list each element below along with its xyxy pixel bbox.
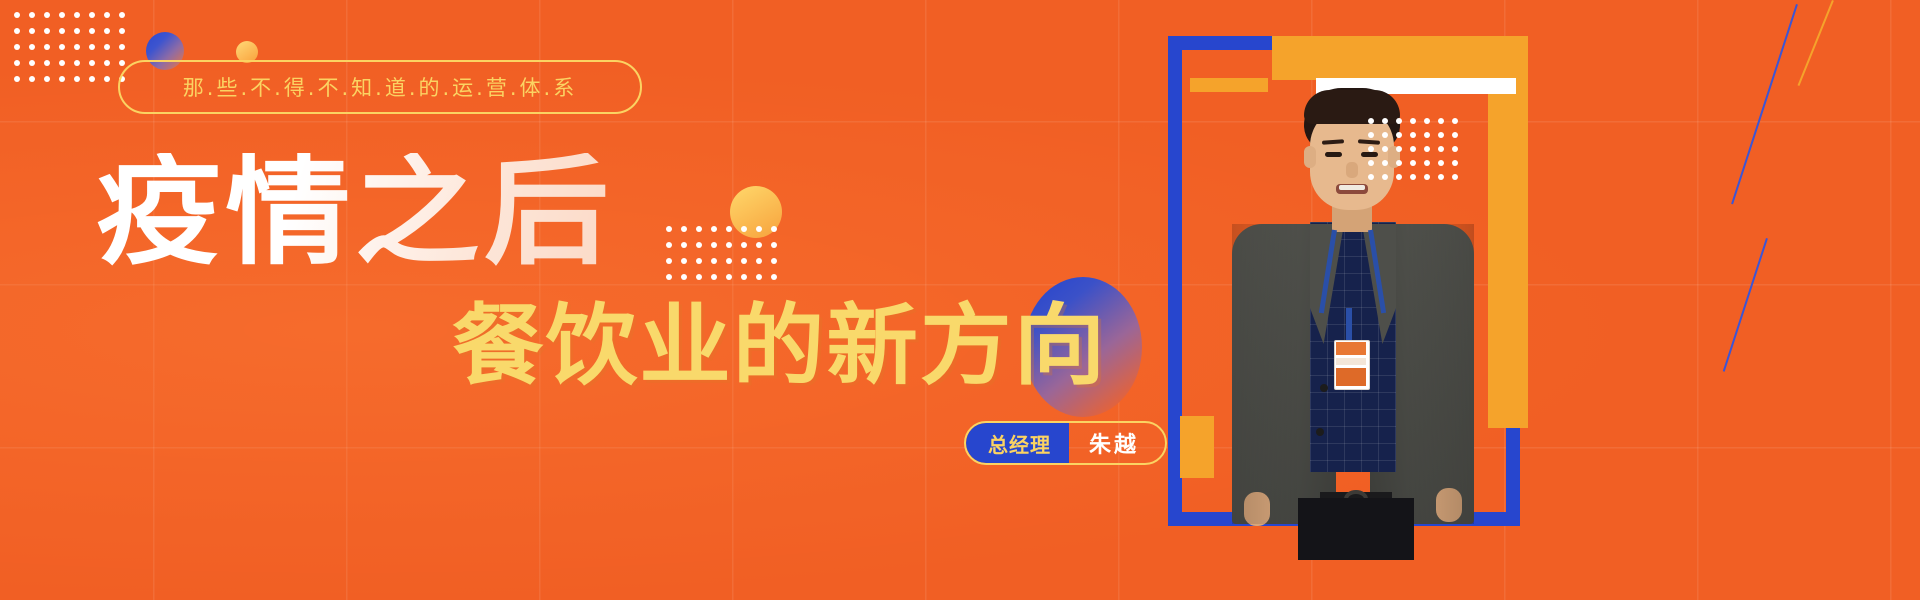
- subtitle-text: 那.些.不.得.不.知.道.的.运.营.体.系: [183, 72, 577, 102]
- portrait-nose: [1346, 162, 1358, 178]
- portrait-id-card-footer: [1336, 368, 1366, 386]
- dot-grid-photo-icon: [1368, 118, 1458, 180]
- headline-secondary: 餐饮业的新方向: [452, 300, 1107, 392]
- portrait-ear-left: [1304, 146, 1316, 168]
- portrait-id-card-header: [1336, 342, 1366, 355]
- portrait-teeth: [1339, 185, 1365, 190]
- speaker-badge: 总经理 朱越: [964, 421, 1167, 465]
- portrait-eye-left: [1325, 152, 1342, 157]
- speaker-role: 总经理: [966, 423, 1069, 463]
- portrait-trousers: [1298, 498, 1414, 560]
- speaker-photo-frame: [1168, 30, 1528, 560]
- portrait-hand-right: [1436, 488, 1462, 522]
- speaker-name: 朱越: [1069, 423, 1165, 463]
- portrait-hand-left: [1244, 492, 1270, 526]
- speaker-portrait: [1192, 84, 1506, 560]
- portrait-jacket-button-1: [1320, 384, 1328, 392]
- headline-primary: 疫情之后: [96, 153, 613, 271]
- portrait-id-card-body: [1336, 358, 1366, 365]
- subtitle-pill: 那.些.不.得.不.知.道.的.运.营.体.系: [118, 60, 642, 114]
- banner-canvas: 那.些.不.得.不.知.道.的.运.营.体.系 疫情之后 餐饮业的新方向 总经理…: [0, 0, 1920, 600]
- portrait-jacket-button-2: [1316, 428, 1324, 436]
- dot-grid-top-left-icon: [14, 12, 125, 82]
- dot-grid-middle-icon: [666, 226, 777, 280]
